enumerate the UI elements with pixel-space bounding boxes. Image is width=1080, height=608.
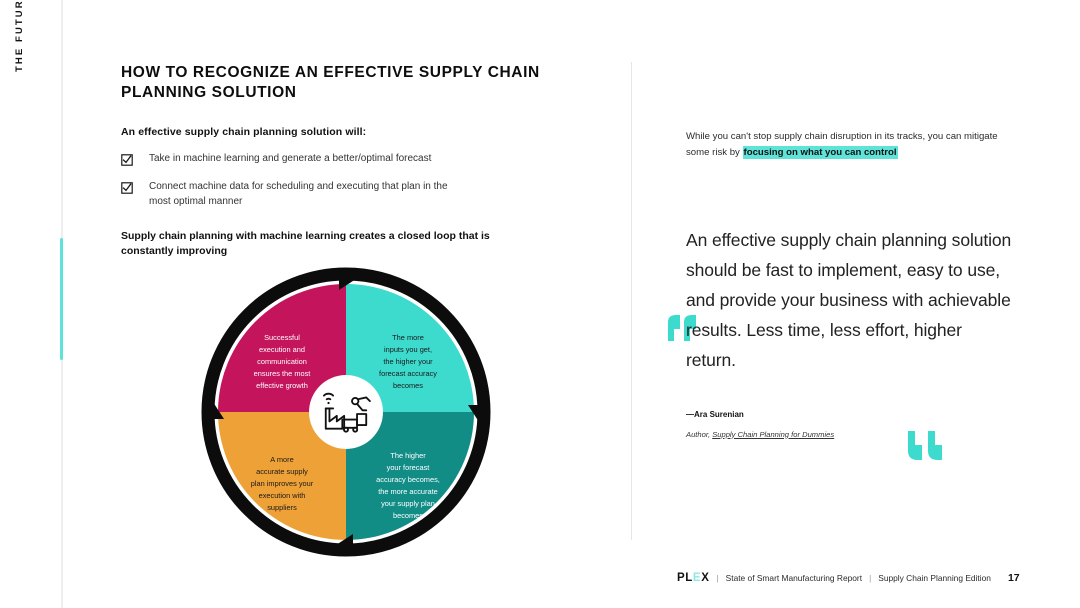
svg-text:execution with: execution with — [259, 491, 306, 500]
svg-text:The more: The more — [392, 333, 424, 342]
svg-text:A more: A more — [270, 455, 293, 464]
sidebar-progress-indicator — [60, 238, 63, 360]
disruption-note: While you can't stop supply chain disrup… — [686, 129, 1016, 160]
checkbox-checked-icon — [121, 153, 133, 165]
footer-report-title: State of Smart Manufacturing Report — [726, 573, 862, 583]
right-content-column: While you can't stop supply chain disrup… — [686, 129, 1016, 439]
plex-logo: PLEX — [677, 572, 709, 584]
svg-text:forecast accuracy: forecast accuracy — [379, 369, 437, 378]
sidebar-vertical-title: THE FUTURE OF SUPPLY CHAIN PLANNING — [14, 0, 25, 72]
logo-accent-letter: E — [693, 572, 701, 584]
checklist-item: Take in machine learning and generate a … — [121, 152, 591, 167]
pull-quote-block: An effective supply chain planning solut… — [686, 225, 1016, 438]
svg-text:The higher: The higher — [390, 451, 426, 460]
svg-text:the more accurate: the more accurate — [378, 487, 438, 496]
checklist-item-label: Connect machine data for scheduling and … — [149, 180, 449, 209]
svg-text:the higher your: the higher your — [383, 357, 433, 366]
closed-loop-diagram: The more inputs you get, the higher your… — [196, 262, 496, 582]
svg-text:ensures the most: ensures the most — [254, 369, 311, 378]
svg-text:accuracy becomes,: accuracy becomes, — [376, 475, 440, 484]
svg-text:inputs you get,: inputs you get, — [384, 345, 432, 354]
quote-attribution-name: —Ara Surenian — [686, 410, 1016, 419]
svg-text:becomes: becomes — [393, 511, 423, 520]
left-sidebar-rail: THE FUTURE OF SUPPLY CHAIN PLANNING — [0, 0, 66, 608]
svg-text:becomes: becomes — [393, 381, 423, 390]
checklist-item-label: Take in machine learning and generate a … — [149, 152, 431, 167]
checkbox-checked-icon — [121, 181, 133, 193]
svg-text:plan improves your: plan improves your — [251, 479, 314, 488]
svg-text:execution and: execution and — [259, 345, 305, 354]
page-title: HOW TO RECOGNIZE AN EFFECTIVE SUPPLY CHA… — [121, 63, 591, 104]
footer-separator: | — [716, 573, 718, 583]
svg-text:accurate supply: accurate supply — [256, 467, 308, 476]
quote-close-icon — [906, 429, 946, 463]
checklist-item: Connect machine data for scheduling and … — [121, 180, 591, 209]
svg-text:your supply plan: your supply plan — [381, 499, 435, 508]
svg-text:effective growth: effective growth — [256, 381, 308, 390]
svg-text:your forecast: your forecast — [387, 463, 430, 472]
highlighted-phrase: focusing on what you can control — [743, 146, 898, 159]
svg-text:Successful: Successful — [264, 333, 300, 342]
quote-attribution-role: Author, Supply Chain Planning for Dummie… — [686, 430, 1016, 439]
logo-text-post: X — [701, 572, 709, 584]
closed-loop-subheading: Supply chain planning with machine learn… — [121, 229, 541, 259]
column-divider — [631, 62, 632, 540]
footer-separator: | — [869, 573, 871, 583]
attribution-role-prefix: Author, — [686, 430, 712, 439]
pull-quote-text: An effective supply chain planning solut… — [686, 225, 1016, 375]
svg-text:communication: communication — [257, 357, 307, 366]
wheel-center-disc — [309, 375, 383, 449]
intro-lead-text: An effective supply chain planning solut… — [121, 126, 591, 138]
svg-text:suppliers: suppliers — [267, 503, 297, 512]
logo-text-pre: PL — [677, 572, 693, 584]
page-footer: PLEX | State of Smart Manufacturing Repo… — [677, 572, 1020, 584]
attribution-book-title: Supply Chain Planning for Dummies — [712, 430, 834, 439]
left-content-column: HOW TO RECOGNIZE AN EFFECTIVE SUPPLY CHA… — [121, 63, 591, 259]
footer-edition: Supply Chain Planning Edition — [878, 573, 991, 583]
page-number: 17 — [1008, 572, 1020, 584]
